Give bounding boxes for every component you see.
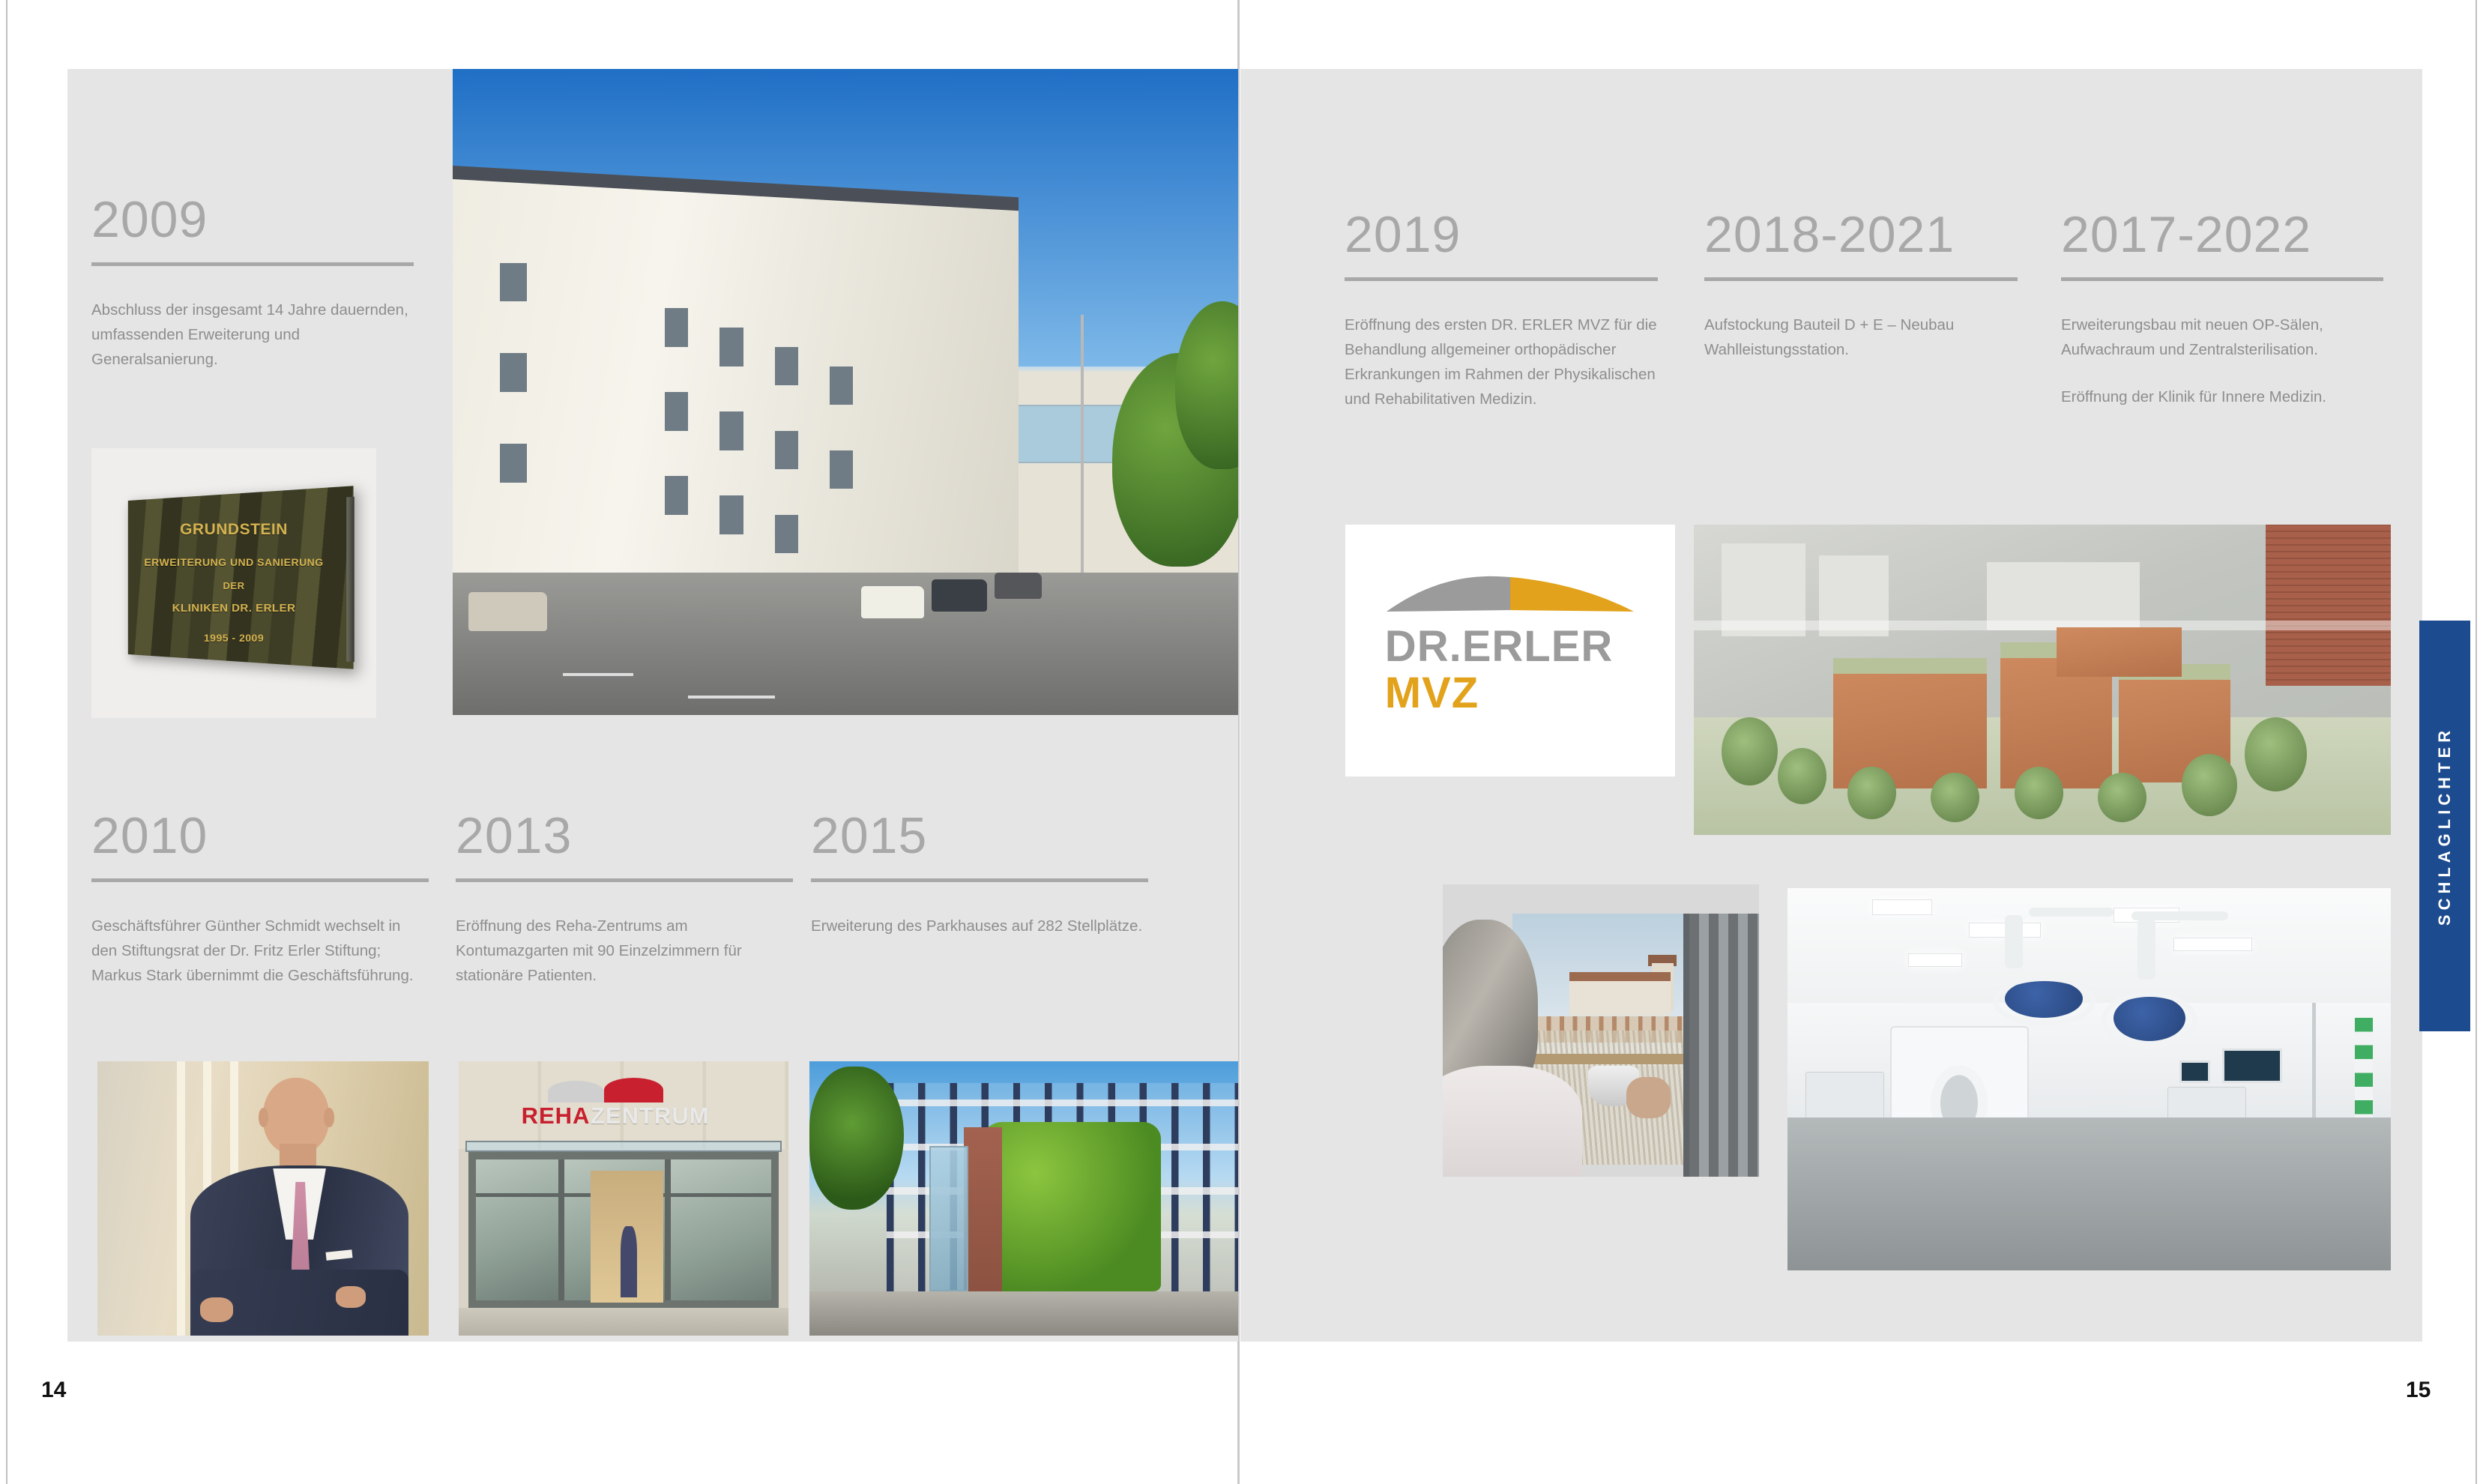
- entry-body-2015: Erweiterung des Parkhauses auf 282 Stell…: [811, 914, 1148, 938]
- logo-wordmark-dr-erler: DR.ERLER: [1385, 624, 1635, 670]
- heading-rule: [1704, 277, 2018, 281]
- photo-reha-zentrum-entrance: REHA ZENTRUM: [459, 1061, 788, 1336]
- entry-body-2017-2022: Erweiterungsbau mit neuen OP-Sälen, Aufw…: [2061, 313, 2383, 409]
- plaque-line-3: DER: [91, 580, 376, 591]
- roof-arc-icon: [1385, 574, 1635, 621]
- photo-operating-room: [1787, 888, 2391, 1270]
- year-heading-2018-2021: 2018-2021: [1704, 208, 2018, 261]
- entry-body-2018-2021: Aufstockung Bauteil D + E – Neubau Wahll…: [1704, 313, 2018, 362]
- heading-rule: [2061, 277, 2383, 281]
- heading-rule: [811, 878, 1148, 882]
- plaque-line-5: 1995 - 2009: [91, 632, 376, 644]
- timeline-entry-2019: 2019 Eröffnung des ersten DR. ERLER MVZ …: [1345, 208, 1658, 411]
- timeline-entry-2018-2021: 2018-2021 Aufstockung Bauteil D + E – Ne…: [1704, 208, 2018, 362]
- entry-body-2010: Geschäftsführer Günther Schmidt wechselt…: [91, 914, 429, 988]
- entry-body-2009: Abschluss der insgesamt 14 Jahre dauernd…: [91, 298, 414, 372]
- plaque-line-2: ERWEITERUNG UND SANIERUNG: [91, 556, 376, 568]
- section-side-tab[interactable]: SCHLAGLICHTER: [2419, 621, 2470, 1031]
- left-page-edge-rule: [6, 0, 7, 1484]
- timeline-entry-2017-2022: 2017-2022 Erweiterungsbau mit neuen OP-S…: [2061, 208, 2383, 409]
- photo-parking-garage: [809, 1061, 1238, 1336]
- plaque-line-1: GRUNDSTEIN: [91, 521, 376, 539]
- timeline-entry-2009: 2009 Abschluss der insgesamt 14 Jahre da…: [91, 193, 414, 372]
- photo-patient-window-view: [1443, 884, 1759, 1177]
- heading-rule: [456, 878, 793, 882]
- heading-rule: [1345, 277, 1658, 281]
- reha-sign-word-red: REHA: [522, 1103, 591, 1129]
- page-number-right: 15: [2406, 1378, 2431, 1403]
- year-heading-2017-2022: 2017-2022: [2061, 208, 2383, 261]
- year-heading-2010: 2010: [91, 809, 429, 862]
- year-heading-2013: 2013: [456, 809, 793, 862]
- entry-body-2013: Eröffnung des Reha-Zentrums am Kontumazg…: [456, 914, 793, 988]
- year-heading-2009: 2009: [91, 193, 414, 246]
- year-heading-2015: 2015: [811, 809, 1148, 862]
- photo-architectural-model: [1694, 525, 2391, 835]
- side-tab-label: SCHLAGLICHTER: [2435, 726, 2455, 926]
- timeline-entry-2015: 2015 Erweiterung des Parkhauses auf 282 …: [811, 809, 1148, 938]
- photo-clinic-building: [453, 69, 1238, 715]
- dr-erler-mvz-logo-card: DR.ERLER MVZ: [1345, 525, 1675, 776]
- right-page-edge-rule: [2476, 0, 2477, 1484]
- photo-managing-director-portrait: [97, 1061, 429, 1336]
- heading-rule: [91, 878, 429, 882]
- year-heading-2019: 2019: [1345, 208, 1658, 261]
- page-spread: 2009 Abschluss der insgesamt 14 Jahre da…: [0, 0, 2483, 1484]
- entry-body-2019: Eröffnung des ersten DR. ERLER MVZ für d…: [1345, 313, 1658, 411]
- plaque-line-4: KLINIKEN DR. ERLER: [91, 602, 376, 615]
- page-number-left: 14: [41, 1378, 66, 1403]
- photo-foundation-plaque: GRUNDSTEIN ERWEITERUNG UND SANIERUNG DER…: [91, 448, 376, 718]
- timeline-entry-2013: 2013 Eröffnung des Reha-Zentrums am Kont…: [456, 809, 793, 988]
- logo-wordmark-mvz: MVZ: [1385, 670, 1635, 717]
- reha-sign-word-silver: ZENTRUM: [591, 1103, 710, 1129]
- timeline-entry-2010: 2010 Geschäftsführer Günther Schmidt wec…: [91, 809, 429, 988]
- heading-rule: [91, 262, 414, 266]
